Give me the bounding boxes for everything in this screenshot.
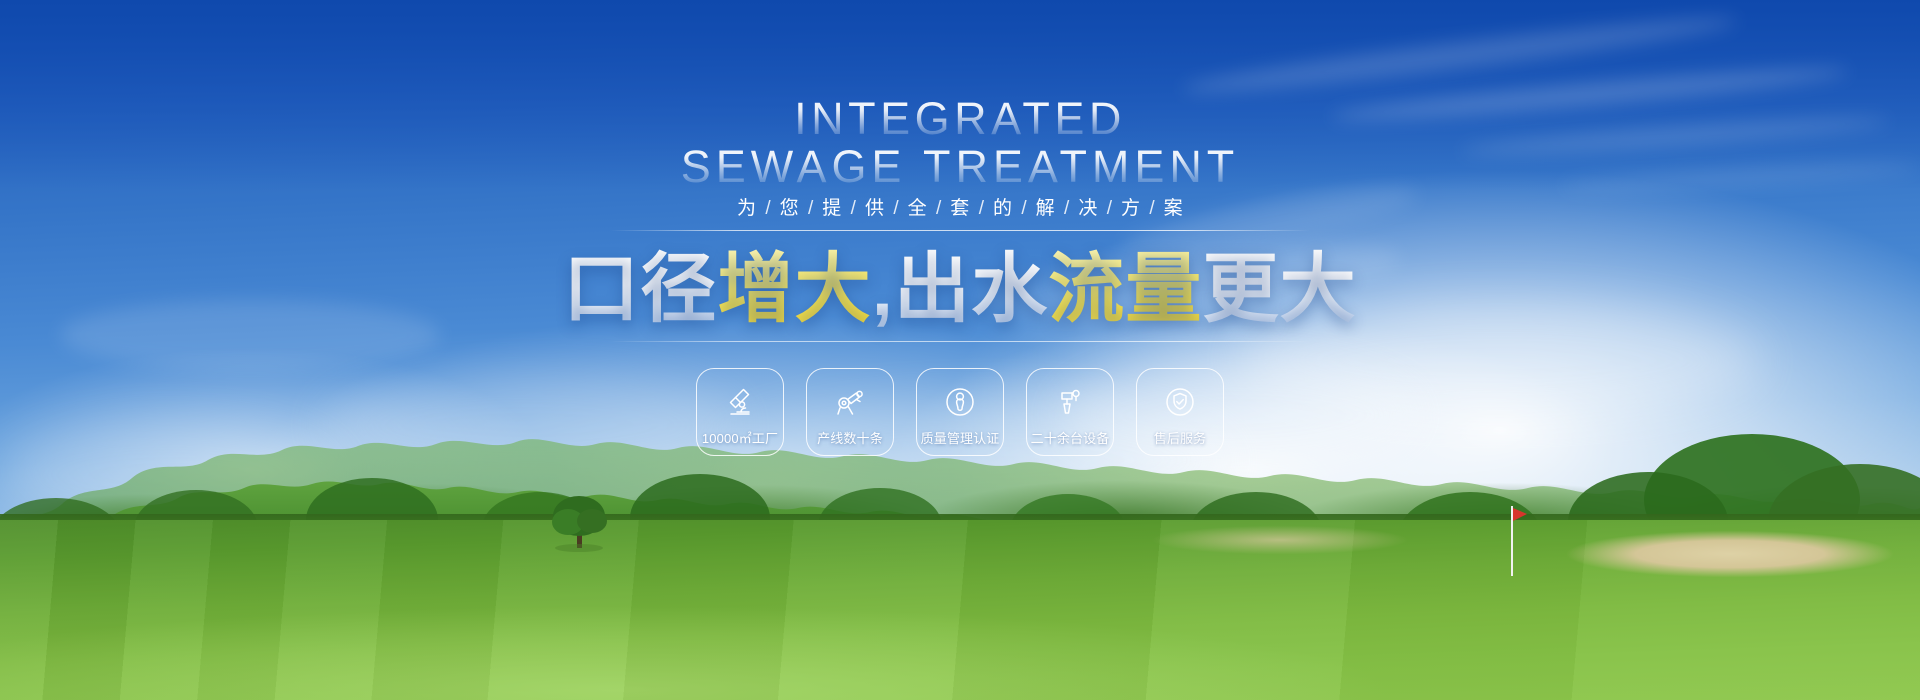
badge-label: 产线数十条 <box>817 432 883 446</box>
badge-factory-area[interactable]: 10000㎡工厂 <box>696 368 784 456</box>
subtitle-char: 决 <box>1069 199 1106 219</box>
subtitle-char: 的 <box>984 199 1021 219</box>
badge-quality-certification[interactable]: 质量管理认证 <box>916 368 1004 456</box>
headline-segment: 口径 <box>563 247 717 333</box>
feature-badges: 10000㎡工厂 产线数十条 <box>696 368 1224 456</box>
subtitle-char: 解 <box>1027 199 1064 219</box>
badge-label: 10000㎡工厂 <box>702 432 778 446</box>
badge-label: 质量管理认证 <box>921 432 1000 446</box>
subtitle-slash-row: 为 / 您 / 提 / 供 / 全 / 套 / 的 / 解 / 决 / 方 / … <box>728 199 1192 219</box>
headline-segment-accent: 增大 <box>717 247 871 333</box>
badge-equipment-count[interactable]: 二十余台设备 <box>1026 368 1114 456</box>
headline-segment-accent: 流量 <box>1048 247 1202 333</box>
production-machine-icon <box>833 385 867 419</box>
subtitle-char: 供 <box>856 199 893 219</box>
headline-segment: 出水 <box>894 247 1048 333</box>
main-headline: 口径 增大 , 出水 流量 更大 <box>563 247 1357 333</box>
subtitle-char: 您 <box>771 199 808 219</box>
subtitle-char: 案 <box>1155 199 1192 219</box>
subtitle-char: 套 <box>941 199 978 219</box>
equipment-tool-icon <box>1053 385 1087 419</box>
shield-check-icon <box>1163 385 1197 419</box>
english-headline-secondary: SEWAGE TREATMENT <box>681 144 1239 190</box>
divider-bottom <box>610 341 1310 342</box>
subtitle-char: 方 <box>1112 199 1149 219</box>
english-headline-primary: INTEGRATED <box>794 96 1126 142</box>
badge-after-sales-service[interactable]: 售后服务 <box>1136 368 1224 456</box>
subtitle-char: 为 <box>728 199 765 219</box>
microscope-icon <box>723 385 757 419</box>
divider-top <box>610 230 1310 231</box>
banner-content: INTEGRATED SEWAGE TREATMENT 为 / 您 / 提 / … <box>0 0 1920 700</box>
badge-production-lines[interactable]: 产线数十条 <box>806 368 894 456</box>
hero-banner: INTEGRATED SEWAGE TREATMENT 为 / 您 / 提 / … <box>0 0 1920 700</box>
headline-comma: , <box>872 247 894 333</box>
headline-segment: 更大 <box>1203 247 1357 333</box>
certificate-badge-icon <box>943 385 977 419</box>
subtitle-char: 提 <box>813 199 850 219</box>
badge-label: 二十余台设备 <box>1031 432 1110 446</box>
badge-label: 售后服务 <box>1154 432 1207 446</box>
subtitle-char: 全 <box>899 199 936 219</box>
